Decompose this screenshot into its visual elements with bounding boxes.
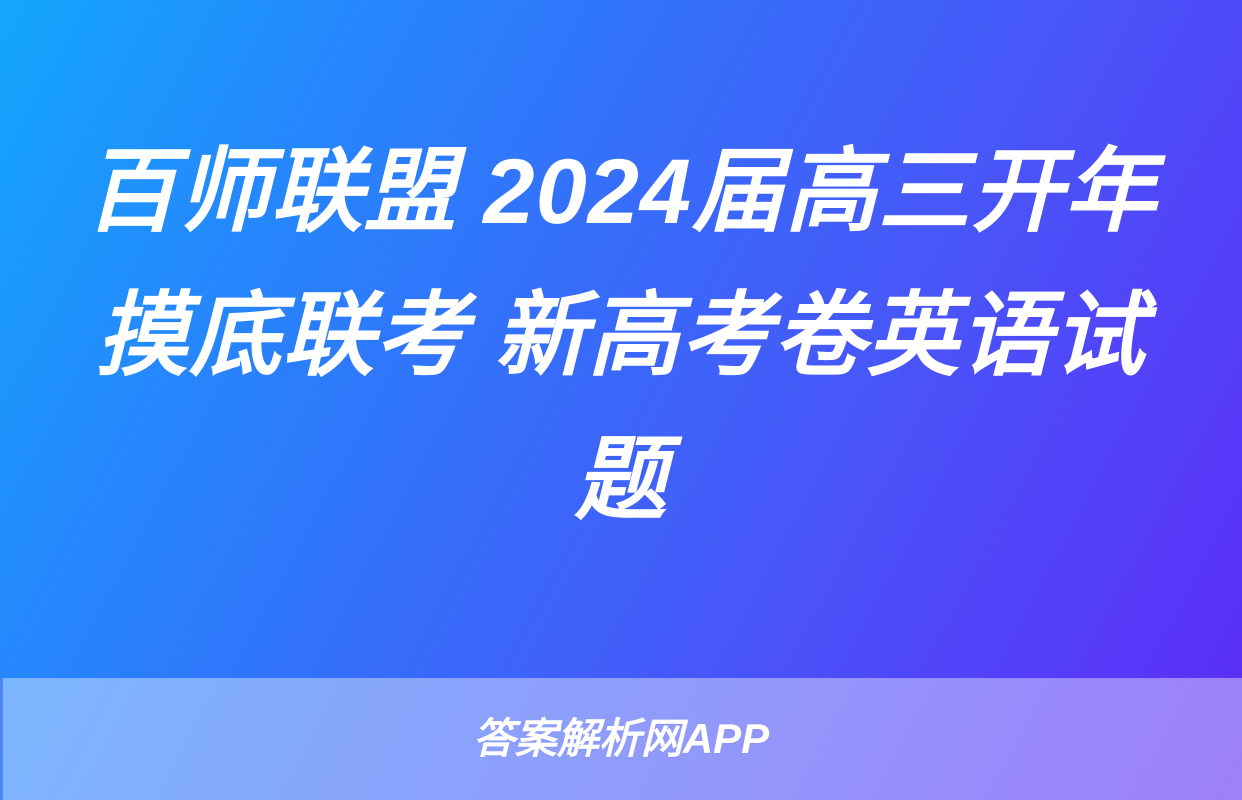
watermark-text: 答案解析网APP: [473, 718, 769, 760]
poster-canvas: 百师联盟 2024届高三开年摸底联考 新高考卷英语试题 答案解析网APP: [0, 0, 1242, 800]
page-title: 百师联盟 2024届高三开年摸底联考 新高考卷英语试题: [62, 120, 1180, 552]
footer-left-edge-stripe: [0, 678, 3, 800]
title-block: 百师联盟 2024届高三开年摸底联考 新高考卷英语试题: [0, 0, 1242, 678]
footer-watermark-band: 答案解析网APP: [0, 678, 1242, 800]
